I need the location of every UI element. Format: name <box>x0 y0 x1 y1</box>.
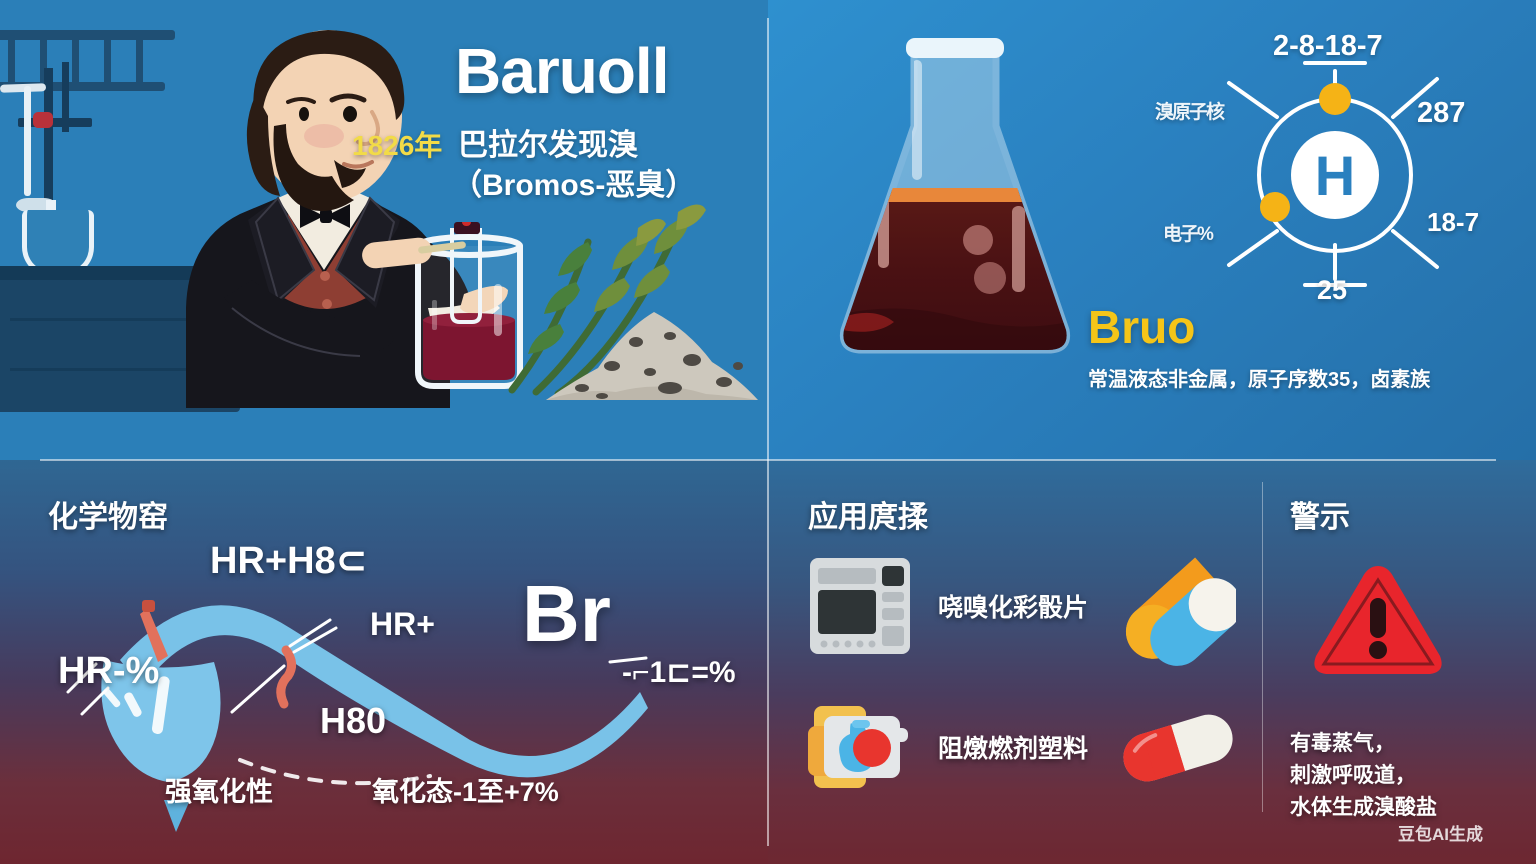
element-name: Bruo <box>1088 300 1195 354</box>
camera-bottle-icon <box>808 702 912 792</box>
chemistry-title: 化学物窑 <box>48 492 168 536</box>
burette-valve-icon <box>33 112 53 128</box>
discovery-subtitle: 巴拉尔发现溴 <box>458 120 638 164</box>
warning-line: 刺激呼吸道， <box>1290 760 1437 792</box>
application-label: 阻燉燃剂塑料 <box>938 729 1088 765</box>
microwave-panel-icon <box>808 556 912 656</box>
ash-pile-illustration <box>542 296 762 406</box>
equation-h80: H80 <box>320 700 386 742</box>
shelf-rung <box>8 30 15 85</box>
warning-triangle-icon <box>1308 560 1448 680</box>
atom-label-top: 2-8-18-7 <box>1273 30 1383 63</box>
capsule-orange-blue-icon <box>1116 556 1236 666</box>
warning-text: 有毒蒸气， 刺激呼吸道， 水体生成溴酸盐 <box>1290 728 1437 824</box>
equation-top: HR+H8⊂ <box>210 538 368 583</box>
element-symbol: Br <box>522 568 611 660</box>
shelf-rung <box>104 30 111 85</box>
bromine-flask-illustration <box>820 30 1090 370</box>
atom-diagram: H 2-8-18-7 287 18-7 25 溴原子核 电子% <box>1155 35 1515 315</box>
infographic-poster: Baruoll 1826年 巴拉尔发现溴 （Bromos-恶臭） <box>0 0 1536 864</box>
burette-icon <box>24 86 31 196</box>
application-item[interactable]: 阻燉燃剂塑料 <box>808 702 1088 792</box>
capsule-red-white-icon <box>1118 708 1238 788</box>
atom-label-lower-right: 18-7 <box>1427 207 1479 238</box>
application-label: 哓嗅化彩骰片 <box>938 588 1088 624</box>
atom-label-upper-left: 溴原子核 <box>1155 97 1223 124</box>
page-title: Baruoll <box>455 34 668 108</box>
application-item[interactable]: 哓嗅化彩骰片 <box>808 556 1088 656</box>
divider-warning <box>1262 482 1263 812</box>
discovery-etymology: （Bromos-恶臭） <box>452 160 695 204</box>
warning-line: 有毒蒸气， <box>1290 728 1437 760</box>
equation-right: -⌐1⊏=% <box>622 655 736 690</box>
atom-label-upper-right: 287 <box>1417 97 1465 130</box>
watermark: 豆包AI生成 <box>1398 820 1483 845</box>
atom-label-bottom: 25 <box>1317 275 1347 306</box>
equation-left: HR-% <box>58 650 159 693</box>
atom-label-lower-left: 电子% <box>1163 219 1212 246</box>
equation-mid: HR+ <box>370 606 435 643</box>
panel-discovery: Baruoll 1826年 巴拉尔发现溴 （Bromos-恶臭） <box>0 0 768 460</box>
element-description: 常温液态非金属，原子序数35，卤素族 <box>1088 363 1430 392</box>
discovery-year: 1826年 <box>352 124 442 164</box>
shelf-rung <box>72 30 79 85</box>
applications-title: 应用庹揉 <box>808 492 928 536</box>
atom-center-symbol: H <box>1315 144 1355 207</box>
property-oxidation-state: 氧化态-1至+7% <box>372 770 559 809</box>
warning-title: 警示 <box>1290 492 1350 536</box>
property-oxidizing: 强氧化性 <box>165 770 273 809</box>
divider-vertical <box>767 18 769 846</box>
